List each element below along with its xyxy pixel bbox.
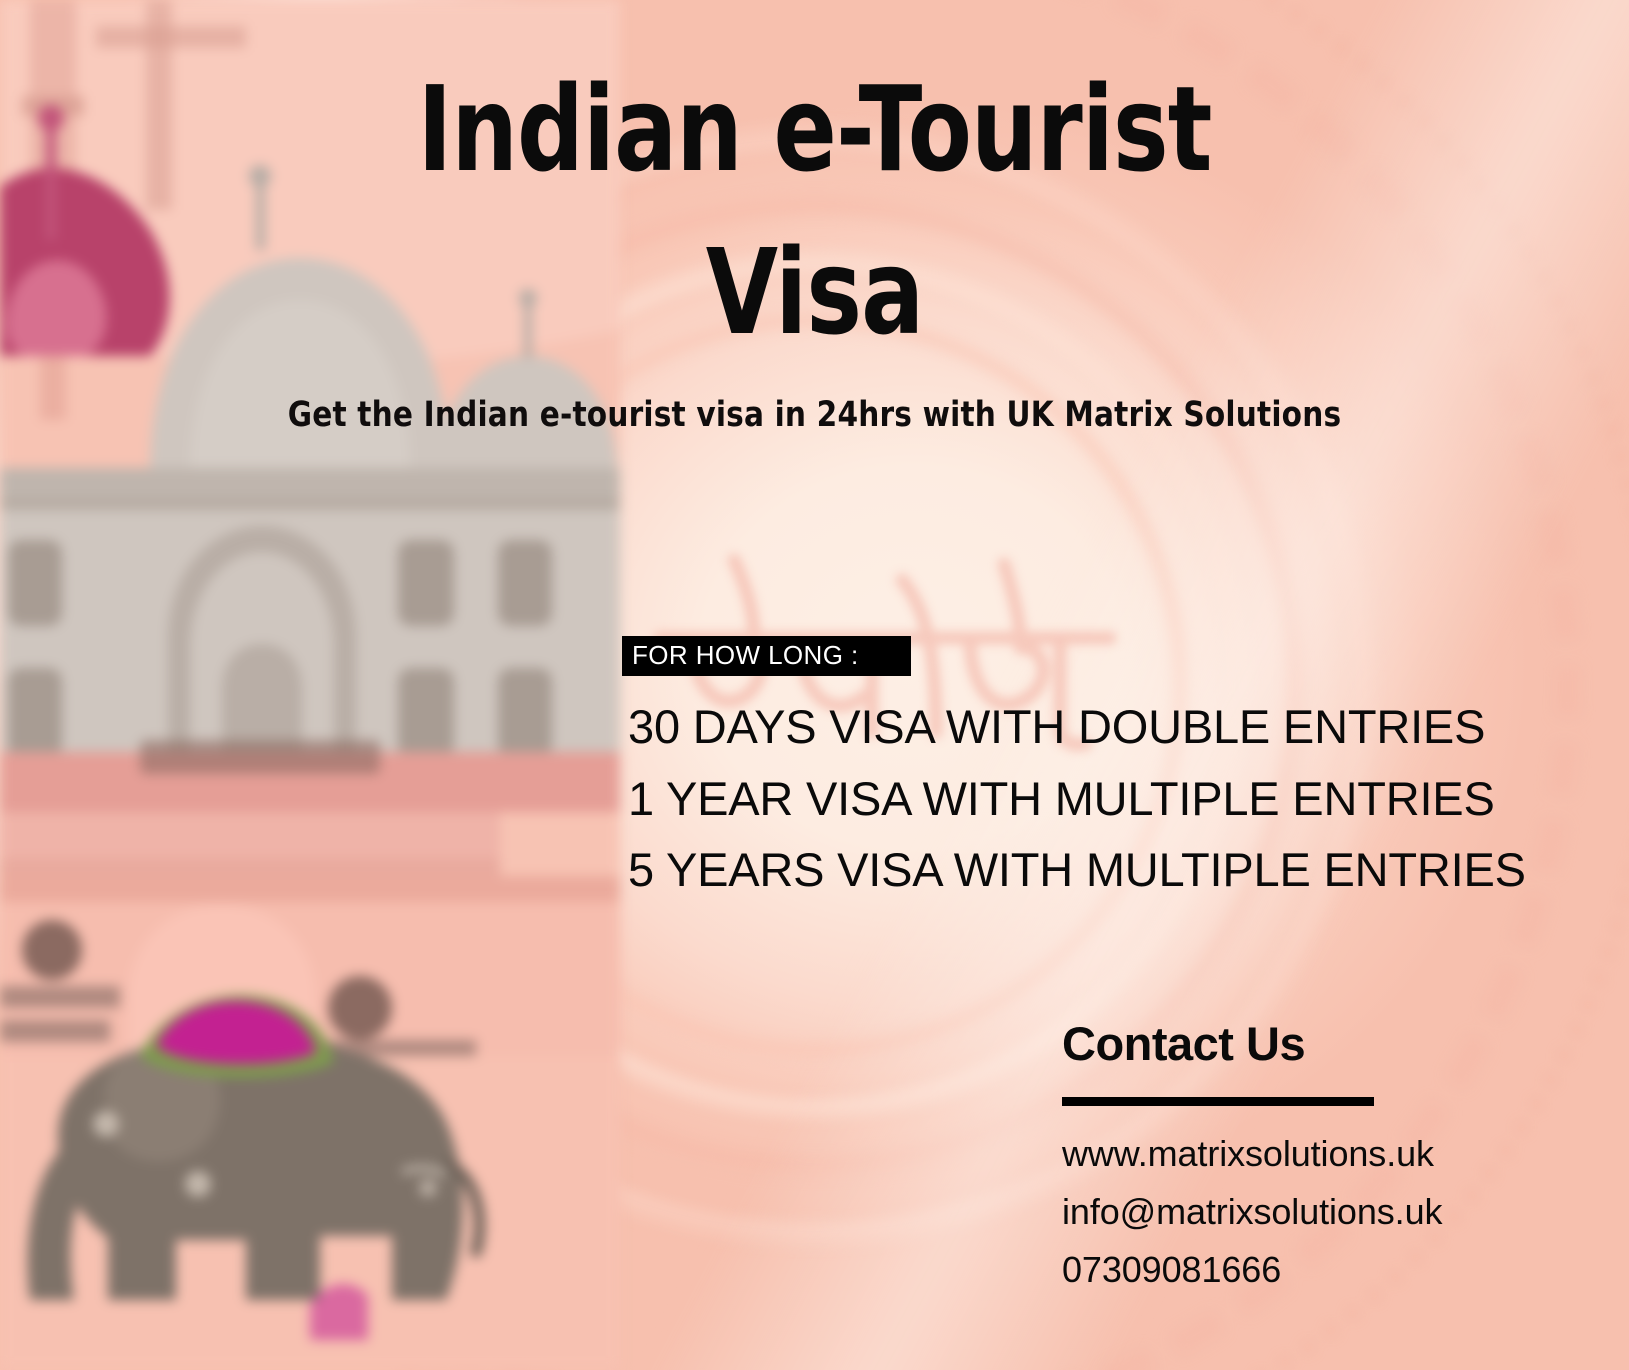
list-item: 5 YEARS VISA WITH MULTIPLE ENTRIES [628, 834, 1622, 905]
duration-section: FOR HOW LONG : 30 DAYS VISA WITH DOUBLE … [622, 636, 1622, 905]
visa-options-list: 30 DAYS VISA WITH DOUBLE ENTRIES 1 YEAR … [622, 691, 1622, 905]
page-title: Indian e-Tourist Visa [98, 48, 1532, 374]
taj-mahal-facade-icon [0, 468, 620, 760]
for-how-long-label: FOR HOW LONG : [622, 636, 911, 676]
contact-website[interactable]: www.matrixsolutions.uk [1062, 1125, 1602, 1183]
list-item: 30 DAYS VISA WITH DOUBLE ENTRIES [628, 691, 1622, 762]
contact-email[interactable]: info@matrixsolutions.uk [1062, 1183, 1602, 1241]
contact-phone[interactable]: 07309081666 [1062, 1241, 1602, 1299]
contact-divider [1062, 1097, 1374, 1106]
contact-heading: Contact Us [1062, 1018, 1602, 1070]
list-item: 1 YEAR VISA WITH MULTIPLE ENTRIES [628, 763, 1622, 834]
contact-section: Contact Us www.matrixsolutions.uk info@m… [1062, 1018, 1602, 1300]
poster-canvas: Indian e-Tourist Visa Get the Indian e-t… [0, 0, 1629, 1370]
page-subtitle: Get the Indian e-tourist visa in 24hrs w… [49, 395, 1580, 435]
